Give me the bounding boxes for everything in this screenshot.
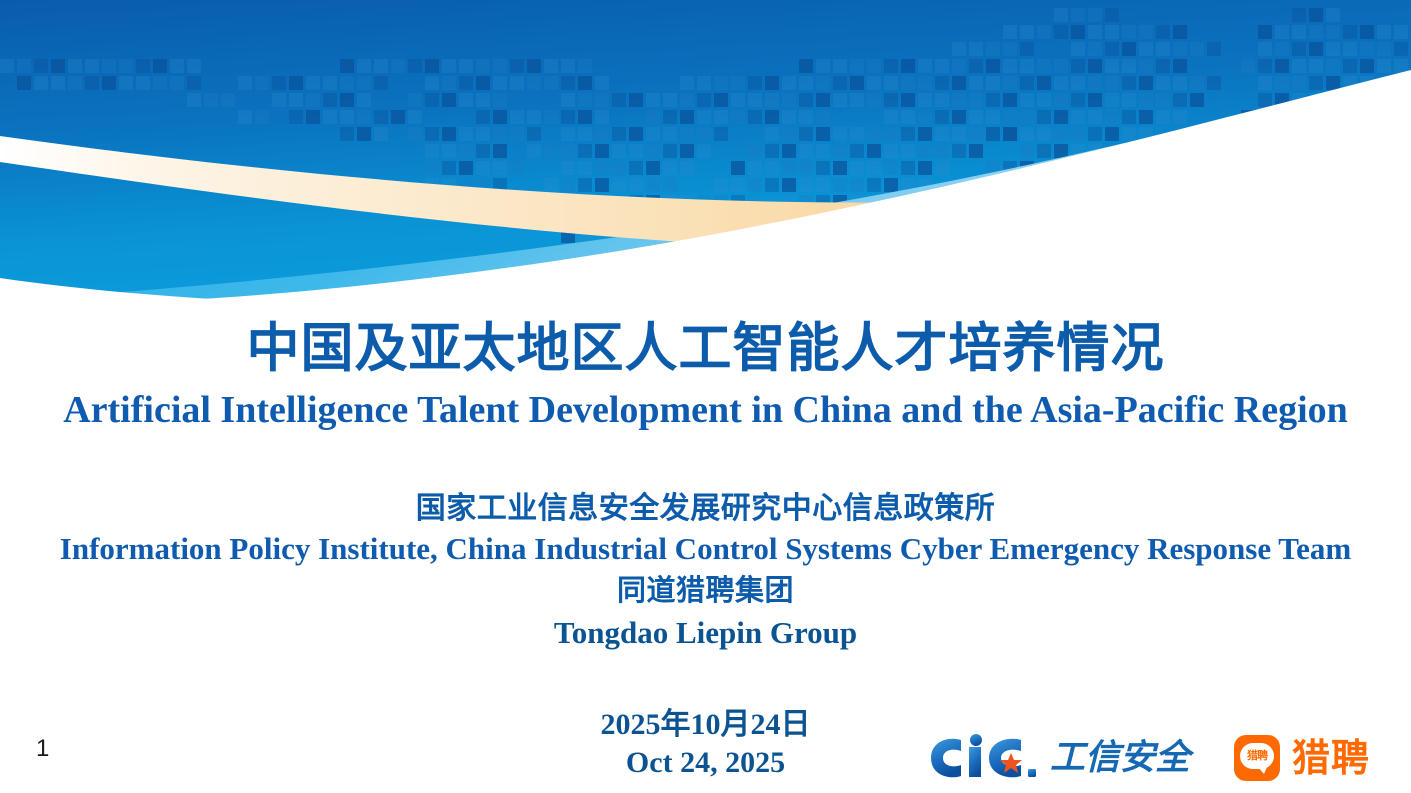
organization-2-english: Tongdao Liepin Group [0,611,1411,655]
page-title-chinese: 中国及亚太地区人工智能人才培养情况 [0,318,1411,380]
cic-logo: 工信安全 [925,732,1190,784]
organization-2-chinese: 同道猎聘集团 [0,569,1411,611]
slide-canvas: 中国及亚太地区人工智能人才培养情况 Artificial Intelligenc… [0,0,1411,793]
page-number: 1 [36,735,49,763]
liepin-logo: 猎聘 猎聘 [1234,734,1370,782]
liepin-logomark-icon: 猎聘 [1234,735,1280,781]
cic-logomark-icon [925,733,1043,783]
organization-1-english: Information Policy Institute, China Indu… [0,529,1411,569]
liepin-wordmark: 猎聘 [1292,736,1370,780]
cic-wordmark: 工信安全 [1050,737,1190,779]
logo-row: 工信安全 猎聘 猎聘 [925,727,1395,789]
organization-block: 国家工业信息安全发展研究中心信息政策所 Information Policy I… [0,489,1411,655]
banner-white-curve-mask [0,0,1411,310]
page-title-english: Artificial Intelligence Talent Developme… [0,386,1411,434]
liepin-bubble-text: 猎聘 [1240,743,1274,769]
decorative-header-banner [0,0,1411,310]
organization-1-chinese: 国家工业信息安全发展研究中心信息政策所 [0,489,1411,529]
title-block: 中国及亚太地区人工智能人才培养情况 Artificial Intelligenc… [0,318,1411,434]
